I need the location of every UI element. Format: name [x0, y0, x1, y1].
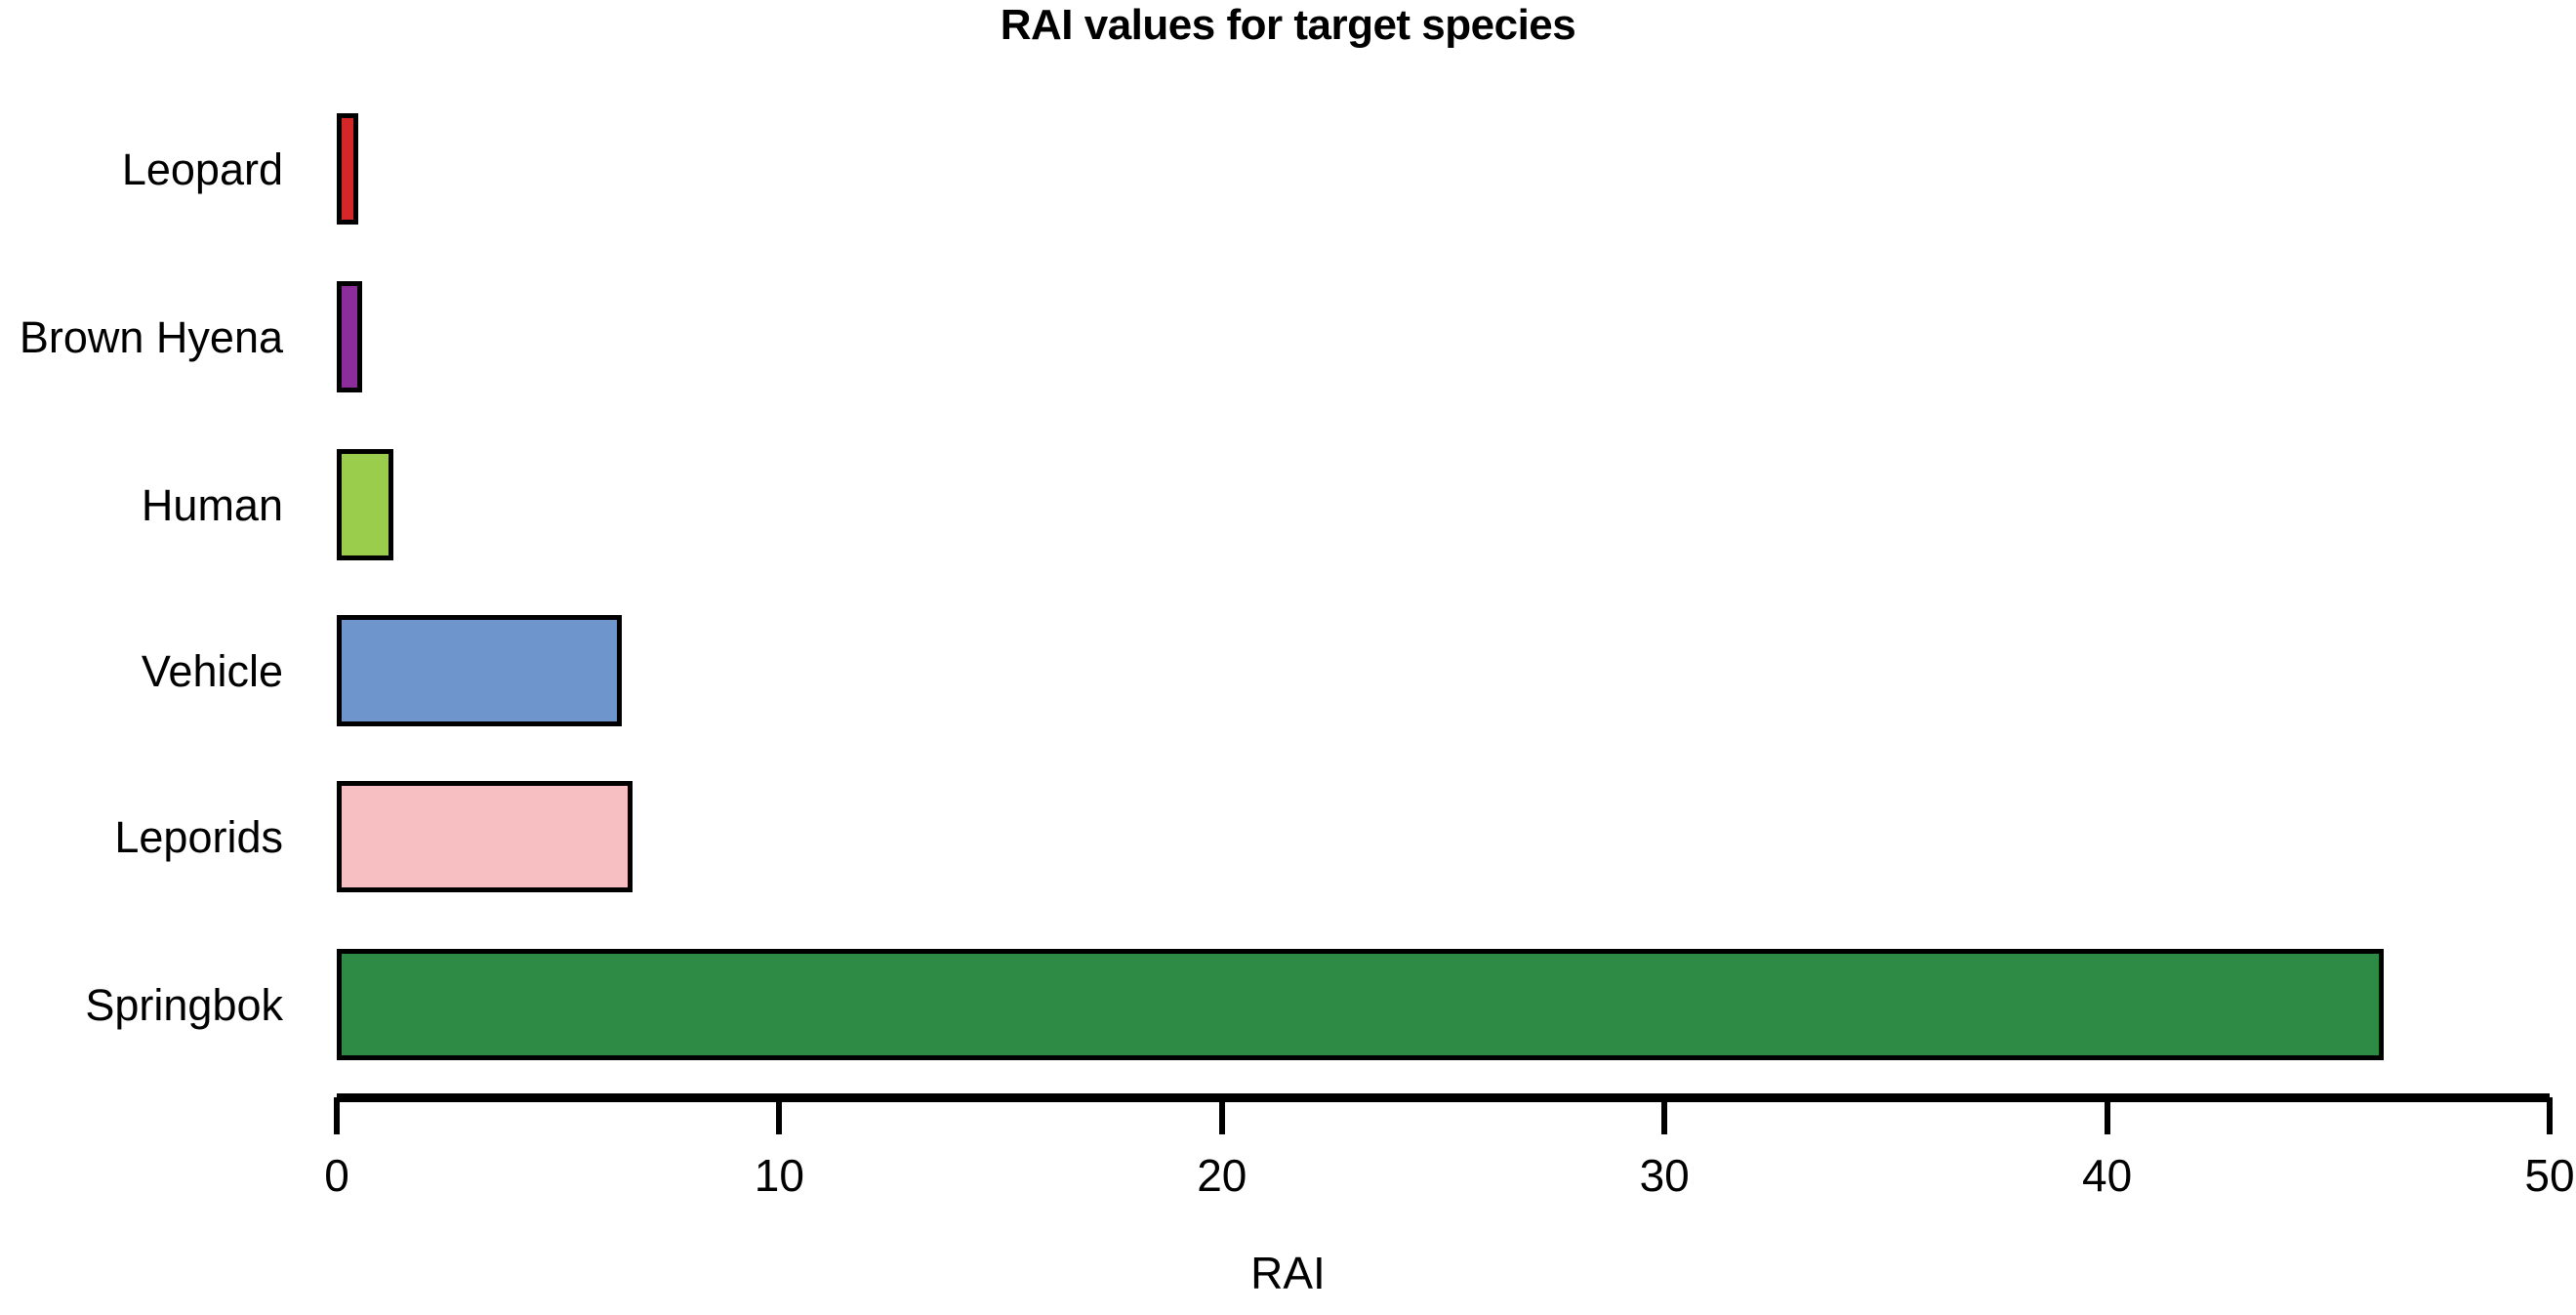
x-tick-label: 40: [2010, 1150, 2205, 1201]
bar: [337, 781, 633, 892]
bar: [337, 113, 358, 225]
x-tick-mark: [1661, 1097, 1667, 1134]
x-tick-mark: [776, 1097, 782, 1134]
x-axis-line: [337, 1093, 2550, 1102]
bar: [337, 449, 393, 560]
category-label: Leopard: [122, 147, 283, 191]
x-tick-label: 50: [2452, 1150, 2576, 1201]
chart-title: RAI values for target species: [0, 2, 2576, 49]
category-label: Human: [142, 483, 283, 527]
x-tick-mark: [2105, 1097, 2110, 1134]
bar: [337, 949, 2384, 1060]
x-tick-mark: [1219, 1097, 1225, 1134]
x-axis-title: RAI: [0, 1248, 2576, 1298]
plot-area: [337, 59, 2550, 1097]
x-tick-mark: [2547, 1097, 2553, 1134]
bar: [337, 281, 362, 392]
category-label: Springbok: [85, 983, 283, 1027]
x-tick-label: 10: [681, 1150, 877, 1201]
chart-container: RAI values for target species LeopardBro…: [0, 0, 2576, 1315]
category-label: Vehicle: [142, 649, 283, 693]
category-label: Leporids: [114, 815, 283, 859]
x-tick-label: 30: [1567, 1150, 1762, 1201]
category-label: Brown Hyena: [20, 315, 283, 359]
x-tick-mark: [334, 1097, 340, 1134]
bar: [337, 615, 622, 726]
x-tick-label: 0: [239, 1150, 434, 1201]
x-tick-label: 20: [1124, 1150, 1320, 1201]
